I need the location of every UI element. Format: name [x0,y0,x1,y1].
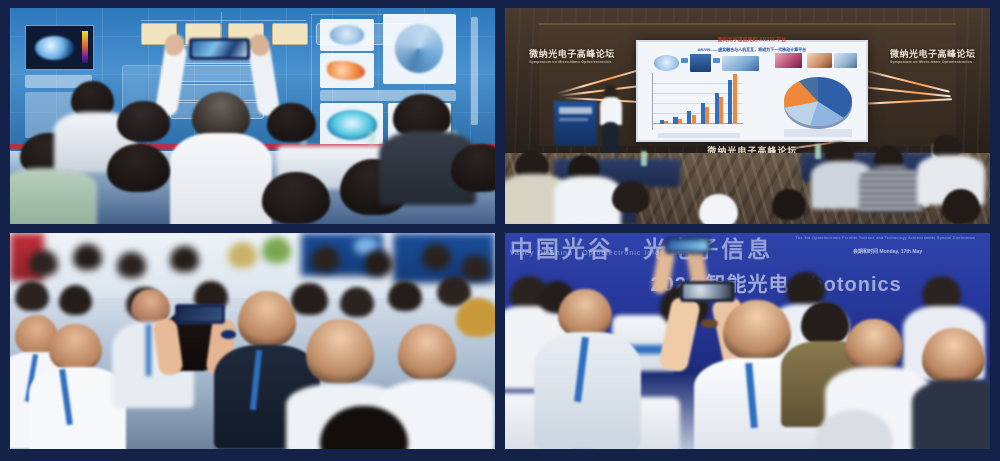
attendee-body [10,168,97,224]
attendee-head [117,252,146,278]
attendee-head [107,144,170,192]
attendee-head [772,189,806,219]
panel-bottom-right[interactable]: 中国光谷 · 光电子信息 Valley Of China · Optoelect… [505,233,990,449]
forum-banner-right: 微纳光电子高峰论坛 Symposium on Micro-Nano Optoel… [890,47,976,64]
attendee-head [73,244,102,270]
attendee-head [170,246,199,272]
forum-banner-left-en: Symposium on Micro-Nano Optoelectronics [529,60,615,64]
speaker-head [604,85,617,98]
slide-flow-arrow [681,58,688,63]
wall-thumb-1 [320,19,373,51]
slide-pie-legend [784,129,852,137]
forum-banner-right-en: Symposium on Micro-Nano Optoelectronics [890,60,976,64]
attendee-head [59,285,93,315]
panel-top-left[interactable] [10,8,495,224]
attendee-face-glasses [306,319,374,384]
slide-flow-icon-1 [654,55,679,71]
attendee-body [534,332,641,449]
attendee-face [922,328,985,384]
attendee-head [699,194,738,224]
wristwatch [221,330,237,339]
forum-banner-left: 微纳光电子高峰论坛 Symposium on Micro-Nano Optoel… [529,47,615,64]
wall-edge-strip [471,17,478,125]
panel-top-right[interactable]: 微纳光电子高峰论坛 Symposium on Micro-Nano Optoel… [505,8,990,224]
attendee-head [786,272,825,307]
bracelet [701,319,717,328]
water-bottle [815,144,821,159]
slide-pie-chart [784,77,852,126]
photo-collage: 微纳光电子高峰论坛 Symposium on Micro-Nano Optoel… [0,0,1000,461]
attendee-head [388,281,422,311]
attendee-body-dark [912,380,990,449]
projection-screen: 面向元宇宙应用的 AR/VR 平台 AR/VR——虚实融合与人机互互，将成为下一… [636,40,868,141]
smartphone-raised[interactable] [175,304,226,323]
water-bottle [369,131,374,144]
slide-flow-icon-2 [690,54,711,71]
podium-subtext [559,118,588,121]
attendee-head [311,246,340,272]
attendee-head [15,281,49,311]
attendee-head [364,250,393,276]
panel-bottom-left[interactable] [10,233,495,449]
attendee-body-center [170,133,272,224]
thermal-image-card [25,25,95,70]
attendee-body-striped [859,166,922,214]
podium [554,101,598,146]
backdrop-date-cn: 会期和时间 Monday, 17th May [853,248,922,255]
slide-flow-arrow [713,58,720,63]
slide-thumb-2 [807,53,832,68]
slide-thumb-3 [834,53,857,68]
attendee-head [262,172,330,224]
attendee-head [942,189,981,224]
forum-banner-right-cn: 微纳光电子高峰论坛 [890,47,976,60]
attendee-face [398,324,456,380]
speaker-torso [600,97,622,125]
attendee-head [612,181,651,213]
slide-title: 面向元宇宙应用的 AR/VR 平台 [661,36,843,43]
attendee-face-focal [238,291,296,347]
camera-phone-raised[interactable] [680,281,735,302]
podium-logo [559,107,592,114]
lanyard [146,324,151,376]
attendee-head [340,287,374,317]
flow-chip-4 [272,23,308,44]
slide-flow-icon-3 [722,56,758,71]
attendee-face-focal [723,300,791,360]
attendee-head-glasses [291,283,327,315]
attendee-head [267,103,316,142]
attendee-face [49,324,102,372]
attendee-head [422,244,451,270]
attendee-head [262,237,291,263]
wall-thumb-3 [383,14,456,83]
attendee-head [117,101,170,142]
backdrop-title-cn: 中国光谷 · 光电子信息 [510,233,773,264]
smartphone-raised[interactable] [665,237,711,254]
attendee-head [456,298,495,337]
backdrop-subtitle-en: The 3rd Optoelectronic Frontier Science … [795,236,975,240]
attendee-head [228,242,257,268]
attendee-face-glasses [845,319,903,371]
water-bottle [641,151,647,166]
smartphone-raised[interactable] [189,38,249,59]
slide-bar-chart [652,73,743,129]
forum-banner-left-cn: 微纳光电子高峰论坛 [529,47,615,60]
slide-thumb-1 [775,53,802,68]
attendee-face-glasses [558,289,611,337]
slide-bar-legend [658,133,740,138]
attendee-head [801,302,850,345]
attendee-head [29,250,58,276]
wall-thumb-2 [320,53,373,88]
attendee-head [461,255,490,281]
